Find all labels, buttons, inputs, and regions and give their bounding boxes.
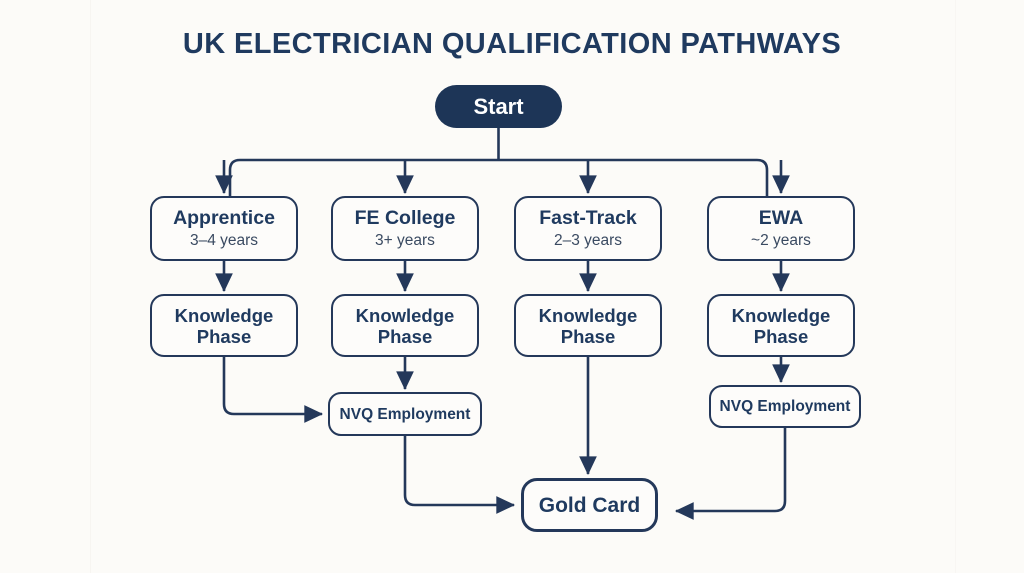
pathway-name: EWA	[759, 207, 803, 230]
phase-line-2: Phase	[561, 326, 616, 347]
pathway-name: Apprentice	[173, 207, 275, 230]
node-pathway-apprentice[interactable]: Apprentice 3–4 years	[150, 196, 298, 261]
wire-nvq-right-to-gold	[676, 428, 785, 511]
pathway-duration: ~2 years	[751, 231, 811, 251]
node-pathway-ewa[interactable]: EWA ~2 years	[707, 196, 855, 261]
diagram-canvas: UK ELECTRICIAN QUALIFICATION PATHWAYS	[0, 0, 1024, 573]
render-seam-left	[90, 0, 91, 573]
phase-line-1: Knowledge	[732, 305, 831, 326]
wire-bus	[230, 160, 767, 196]
phase-line-1: Knowledge	[175, 305, 274, 326]
node-start[interactable]: Start	[435, 85, 562, 128]
phase-line-2: Phase	[197, 326, 252, 347]
wire-apprentice-phase-to-nvq	[224, 357, 322, 414]
node-knowledge-phase-apprentice[interactable]: Knowledge Phase	[150, 294, 298, 357]
pathway-name: Fast-Track	[539, 207, 637, 230]
nvq-label: NVQ Employment	[720, 395, 851, 418]
page-title: UK ELECTRICIAN QUALIFICATION PATHWAYS	[0, 28, 1024, 61]
pathway-name: FE College	[355, 207, 456, 230]
phase-line-1: Knowledge	[356, 305, 455, 326]
phase-line-1: Knowledge	[539, 305, 638, 326]
render-seam-right	[955, 0, 956, 573]
gold-card-label: Gold Card	[539, 494, 641, 517]
node-nvq-employment-left[interactable]: NVQ Employment	[328, 392, 482, 436]
wire-nvq-left-to-gold	[405, 436, 514, 505]
node-knowledge-phase-fast-track[interactable]: Knowledge Phase	[514, 294, 662, 357]
node-start-label: Start	[473, 95, 523, 118]
nvq-label: NVQ Employment	[340, 403, 471, 426]
node-knowledge-phase-fe-college[interactable]: Knowledge Phase	[331, 294, 479, 357]
node-gold-card[interactable]: Gold Card	[521, 478, 658, 532]
pathway-duration: 3–4 years	[190, 231, 258, 251]
node-nvq-employment-right[interactable]: NVQ Employment	[709, 385, 861, 428]
node-knowledge-phase-ewa[interactable]: Knowledge Phase	[707, 294, 855, 357]
node-pathway-fast-track[interactable]: Fast-Track 2–3 years	[514, 196, 662, 261]
pathway-duration: 3+ years	[375, 231, 435, 251]
phase-line-2: Phase	[378, 326, 433, 347]
node-pathway-fe-college[interactable]: FE College 3+ years	[331, 196, 479, 261]
pathway-duration: 2–3 years	[554, 231, 622, 251]
phase-line-2: Phase	[754, 326, 809, 347]
